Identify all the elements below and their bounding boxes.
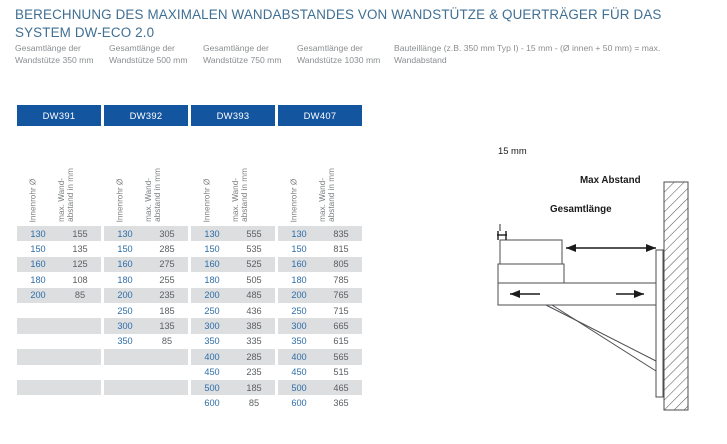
- subheader-diameter-label: Innenrohr Ø: [203, 178, 212, 222]
- table-row: 150135150285150535150815: [17, 241, 362, 256]
- cell-max-distance: 765: [320, 288, 362, 303]
- table-cell-group-dw392: 130305: [104, 226, 188, 241]
- subtitle-row: Gesamtlänge der Wandstütze 350 mm Gesamt…: [15, 43, 720, 66]
- table-row: 250185250436250715: [17, 303, 362, 318]
- table-cell-group-dw391: 180108: [17, 272, 101, 287]
- cell-max-distance: 135: [146, 318, 188, 333]
- cell-diameter: [104, 365, 146, 380]
- table-group-dw393: DW393: [191, 105, 275, 126]
- cell-max-distance: 255: [146, 272, 188, 287]
- diagram-svg: [480, 178, 727, 440]
- subheader-distance-line1: max. Wand-: [57, 168, 66, 222]
- cell-max-distance: 515: [320, 365, 362, 380]
- cell-diameter: [104, 395, 146, 410]
- table-group-header-row: DW391 DW392 DW393 DW407: [17, 105, 362, 126]
- table-cell-group-dw391: [17, 318, 101, 333]
- table-cell-group-dw391: 160125: [17, 257, 101, 272]
- subheader-distance-dw393: max. Wand-abstand in mm: [233, 132, 275, 224]
- subheader-distance-line1: max. Wand-: [144, 168, 153, 222]
- subheader-distance-line1: max. Wand-: [318, 168, 327, 222]
- cell-diameter: 130: [278, 226, 320, 241]
- cell-max-distance: [146, 380, 188, 395]
- table-cell-group-dw393: 200485: [191, 288, 275, 303]
- max-distance-arrow-right: [646, 244, 656, 252]
- table-cell-group-dw393: 60085: [191, 395, 275, 410]
- label-gesamtlaenge: Gesamtlänge: [550, 204, 612, 215]
- subtitle-formula: Bauteillänge (z.B. 350 mm Typ I) - 15 mm…: [391, 43, 720, 66]
- subheader-distance-line1: max. Wand-: [231, 168, 240, 222]
- cell-max-distance: 555: [233, 226, 275, 241]
- cell-diameter: 160: [17, 257, 59, 272]
- wall-hatched: [664, 182, 688, 410]
- page-root: BERECHNUNG DES MAXIMALEN WANDABSTANDES V…: [0, 0, 727, 444]
- table-cell-group-dw407: 400565: [278, 349, 362, 364]
- cell-max-distance: [59, 318, 101, 333]
- table-cell-group-dw391: [17, 395, 101, 410]
- cell-max-distance: 155: [59, 226, 101, 241]
- table-cell-group-dw392: [104, 380, 188, 395]
- cell-diameter: [17, 380, 59, 395]
- cell-max-distance: 235: [233, 365, 275, 380]
- cell-max-distance: 305: [146, 226, 188, 241]
- table-row: 500185500465: [17, 380, 362, 395]
- measurement-table: DW391 DW392 DW393 DW407 Innenrohr Ømax. …: [17, 105, 362, 411]
- table-subheader-group-dw392: Innenrohr Ømax. Wand-abstand in mm: [104, 132, 188, 224]
- cell-diameter: 200: [278, 288, 320, 303]
- table-row: 130155130305130555130835: [17, 226, 362, 241]
- cell-diameter: 160: [278, 257, 320, 272]
- cell-max-distance: 285: [233, 349, 275, 364]
- table-row: 300135300385300665: [17, 318, 362, 333]
- cell-diameter: 130: [104, 226, 146, 241]
- table-subheader-row: Innenrohr Ømax. Wand-abstand in mmInnenr…: [17, 132, 362, 224]
- table-cell-group-dw407: 500465: [278, 380, 362, 395]
- cell-max-distance: 275: [146, 257, 188, 272]
- cell-diameter: 300: [191, 318, 233, 333]
- table-cell-group-dw393: 250436: [191, 303, 275, 318]
- table-row: 20085200235200485200765: [17, 288, 362, 303]
- table-cell-group-dw391: 20085: [17, 288, 101, 303]
- cell-max-distance: 385: [233, 318, 275, 333]
- cell-max-distance: 615: [320, 334, 362, 349]
- subheader-distance-dw391: max. Wand-abstand in mm: [59, 132, 101, 224]
- cell-diameter: 600: [278, 395, 320, 410]
- table-cell-group-dw393: 180505: [191, 272, 275, 287]
- table-cell-group-dw393: 160525: [191, 257, 275, 272]
- cell-diameter: 450: [191, 365, 233, 380]
- cell-diameter: 600: [191, 395, 233, 410]
- subheader-distance-dw407: max. Wand-abstand in mm: [320, 132, 362, 224]
- cell-diameter: 200: [104, 288, 146, 303]
- label-15mm: 15 mm: [498, 145, 527, 156]
- cell-diameter: 300: [278, 318, 320, 333]
- table-cell-group-dw392: [104, 349, 188, 364]
- cell-diameter: 150: [17, 241, 59, 256]
- table-cell-group-dw407: 600365: [278, 395, 362, 410]
- cell-max-distance: 125: [59, 257, 101, 272]
- subheader-diameter-dw393: Innenrohr Ø: [191, 132, 233, 224]
- subheader-diameter-dw391: Innenrohr Ø: [17, 132, 59, 224]
- cell-diameter: 150: [104, 241, 146, 256]
- table-subheader-group-dw407: Innenrohr Ømax. Wand-abstand in mm: [278, 132, 362, 224]
- cell-diameter: 130: [191, 226, 233, 241]
- support-block: [498, 264, 564, 283]
- table-cell-group-dw393: 450235: [191, 365, 275, 380]
- cell-diameter: 180: [278, 272, 320, 287]
- cell-diameter: 150: [278, 241, 320, 256]
- brace-line-top: [546, 305, 656, 361]
- pipe-box: [500, 240, 562, 264]
- subheader-diameter-label: Innenrohr Ø: [116, 178, 125, 222]
- table-cell-group-dw407: 350615: [278, 334, 362, 349]
- table-subheader-group-dw393: Innenrohr Ømax. Wand-abstand in mm: [191, 132, 275, 224]
- table-cell-group-dw393: 400285: [191, 349, 275, 364]
- table-cell-group-dw391: [17, 380, 101, 395]
- cell-diameter: 200: [191, 288, 233, 303]
- subtitle-dw407: Gesamtlänge der Wandstütze 1030 mm: [297, 43, 391, 66]
- table-cell-group-dw407: 200765: [278, 288, 362, 303]
- cell-diameter: [104, 349, 146, 364]
- cell-max-distance: 835: [320, 226, 362, 241]
- table-group-dw407: DW407: [278, 105, 362, 126]
- cell-diameter: [17, 365, 59, 380]
- cell-diameter: 180: [191, 272, 233, 287]
- subheader-distance-line2: abstand in mm: [67, 168, 76, 222]
- subheader-diameter-dw392: Innenrohr Ø: [104, 132, 146, 224]
- cell-diameter: 300: [104, 318, 146, 333]
- cell-diameter: 500: [278, 380, 320, 395]
- wall-bracket-diagram: 15 mm Max Abstand Gesamtlänge: [480, 178, 727, 440]
- cell-max-distance: 185: [146, 303, 188, 318]
- table-cell-group-dw407: 450515: [278, 365, 362, 380]
- table-cell-group-dw391: 150135: [17, 241, 101, 256]
- cell-max-distance: [59, 303, 101, 318]
- cell-diameter: 250: [191, 303, 233, 318]
- cell-diameter: 160: [104, 257, 146, 272]
- cell-diameter: 180: [17, 272, 59, 287]
- cell-max-distance: 436: [233, 303, 275, 318]
- cell-diameter: 400: [278, 349, 320, 364]
- table-cell-group-dw393: 300385: [191, 318, 275, 333]
- cell-max-distance: [146, 349, 188, 364]
- cell-max-distance: 85: [59, 288, 101, 303]
- table-cell-group-dw391: [17, 349, 101, 364]
- cell-max-distance: [59, 349, 101, 364]
- subtitle-dw392: Gesamtlänge der Wandstütze 500 mm: [109, 43, 203, 66]
- cell-diameter: [17, 303, 59, 318]
- table-cell-group-dw392: 300135: [104, 318, 188, 333]
- cell-max-distance: 108: [59, 272, 101, 287]
- table-cell-group-dw393: 150535: [191, 241, 275, 256]
- table-cell-group-dw393: 130555: [191, 226, 275, 241]
- cell-max-distance: 715: [320, 303, 362, 318]
- subheader-diameter-label: Innenrohr Ø: [29, 178, 38, 222]
- cell-max-distance: 485: [233, 288, 275, 303]
- table-cell-group-dw392: 180255: [104, 272, 188, 287]
- subheader-distance-line2: abstand in mm: [328, 168, 337, 222]
- table-cell-group-dw407: 250715: [278, 303, 362, 318]
- cell-diameter: 180: [104, 272, 146, 287]
- cell-max-distance: 815: [320, 241, 362, 256]
- subtitle-dw393: Gesamtlänge der Wandstütze 750 mm: [203, 43, 297, 66]
- cell-diameter: 400: [191, 349, 233, 364]
- cell-max-distance: [59, 395, 101, 410]
- subtitle-dw391: Gesamtlänge der Wandstütze 350 mm: [15, 43, 109, 66]
- subheader-diameter-dw407: Innenrohr Ø: [278, 132, 320, 224]
- table-cell-group-dw391: 130155: [17, 226, 101, 241]
- subheader-distance-dw392: max. Wand-abstand in mm: [146, 132, 188, 224]
- cell-diameter: [17, 318, 59, 333]
- cell-diameter: 350: [104, 334, 146, 349]
- subheader-distance-label: max. Wand-abstand in mm: [231, 168, 250, 222]
- cell-max-distance: 235: [146, 288, 188, 303]
- cell-max-distance: 335: [233, 334, 275, 349]
- table-cell-group-dw391: [17, 303, 101, 318]
- table-cell-group-dw393: 500185: [191, 380, 275, 395]
- table-group-dw392: DW392: [104, 105, 188, 126]
- cell-max-distance: 365: [320, 395, 362, 410]
- table-cell-group-dw393: 350335: [191, 334, 275, 349]
- subheader-distance-label: max. Wand-abstand in mm: [144, 168, 163, 222]
- cell-max-distance: [146, 395, 188, 410]
- cell-max-distance: 465: [320, 380, 362, 395]
- table-cell-group-dw392: 35085: [104, 334, 188, 349]
- cell-diameter: 500: [191, 380, 233, 395]
- table-subheader-group-dw391: Innenrohr Ømax. Wand-abstand in mm: [17, 132, 101, 224]
- subheader-distance-label: max. Wand-abstand in mm: [57, 168, 76, 222]
- max-distance-arrow-left: [566, 244, 576, 252]
- table-group-dw391: DW391: [17, 105, 101, 126]
- cell-max-distance: 85: [146, 334, 188, 349]
- cell-diameter: 200: [17, 288, 59, 303]
- table-row: 160125160275160525160805: [17, 257, 362, 272]
- table-body: 1301551303051305551308351501351502851505…: [17, 226, 362, 411]
- table-cell-group-dw392: 150285: [104, 241, 188, 256]
- subheader-diameter-label: Innenrohr Ø: [290, 178, 299, 222]
- cell-diameter: 350: [191, 334, 233, 349]
- cell-diameter: 350: [278, 334, 320, 349]
- table-cell-group-dw392: 200235: [104, 288, 188, 303]
- cell-diameter: 130: [17, 226, 59, 241]
- subheader-distance-line2: abstand in mm: [241, 168, 250, 222]
- cell-max-distance: 565: [320, 349, 362, 364]
- cell-max-distance: 535: [233, 241, 275, 256]
- table-cell-group-dw391: [17, 365, 101, 380]
- cell-max-distance: 785: [320, 272, 362, 287]
- table-row: 400285400565: [17, 349, 362, 364]
- cell-diameter: [17, 334, 59, 349]
- table-cell-group-dw392: [104, 395, 188, 410]
- table-cell-group-dw407: 180785: [278, 272, 362, 287]
- cell-diameter: [17, 395, 59, 410]
- table-cell-group-dw407: 300665: [278, 318, 362, 333]
- cell-diameter: 450: [278, 365, 320, 380]
- table-cell-group-dw391: [17, 334, 101, 349]
- cell-max-distance: 135: [59, 241, 101, 256]
- cell-diameter: [104, 380, 146, 395]
- table-cell-group-dw392: 250185: [104, 303, 188, 318]
- cell-max-distance: [59, 334, 101, 349]
- cell-diameter: 150: [191, 241, 233, 256]
- cell-max-distance: 505: [233, 272, 275, 287]
- table-cell-group-dw392: 160275: [104, 257, 188, 272]
- subheader-distance-line2: abstand in mm: [154, 168, 163, 222]
- cell-max-distance: 805: [320, 257, 362, 272]
- table-cell-group-dw407: 130835: [278, 226, 362, 241]
- cell-diameter: 250: [104, 303, 146, 318]
- page-title: BERECHNUNG DES MAXIMALEN WANDABSTANDES V…: [15, 6, 715, 41]
- table-row: 60085600365: [17, 395, 362, 410]
- cell-max-distance: 525: [233, 257, 275, 272]
- cell-max-distance: [59, 365, 101, 380]
- table-row: 35085350335350615: [17, 334, 362, 349]
- table-row: 450235450515: [17, 365, 362, 380]
- table-cell-group-dw407: 160805: [278, 257, 362, 272]
- cell-max-distance: 665: [320, 318, 362, 333]
- table-cell-group-dw392: [104, 365, 188, 380]
- label-max-abstand: Max Abstand: [580, 175, 641, 186]
- cell-max-distance: 285: [146, 241, 188, 256]
- cell-diameter: [17, 349, 59, 364]
- brace-line-bottom: [552, 305, 656, 371]
- cell-diameter: 250: [278, 303, 320, 318]
- cell-max-distance: [59, 380, 101, 395]
- table-row: 180108180255180505180785: [17, 272, 362, 287]
- cell-max-distance: [146, 365, 188, 380]
- cell-max-distance: 85: [233, 395, 275, 410]
- mounting-plate: [656, 250, 663, 397]
- cell-max-distance: 185: [233, 380, 275, 395]
- table-cell-group-dw407: 150815: [278, 241, 362, 256]
- subheader-distance-label: max. Wand-abstand in mm: [318, 168, 337, 222]
- cell-diameter: 160: [191, 257, 233, 272]
